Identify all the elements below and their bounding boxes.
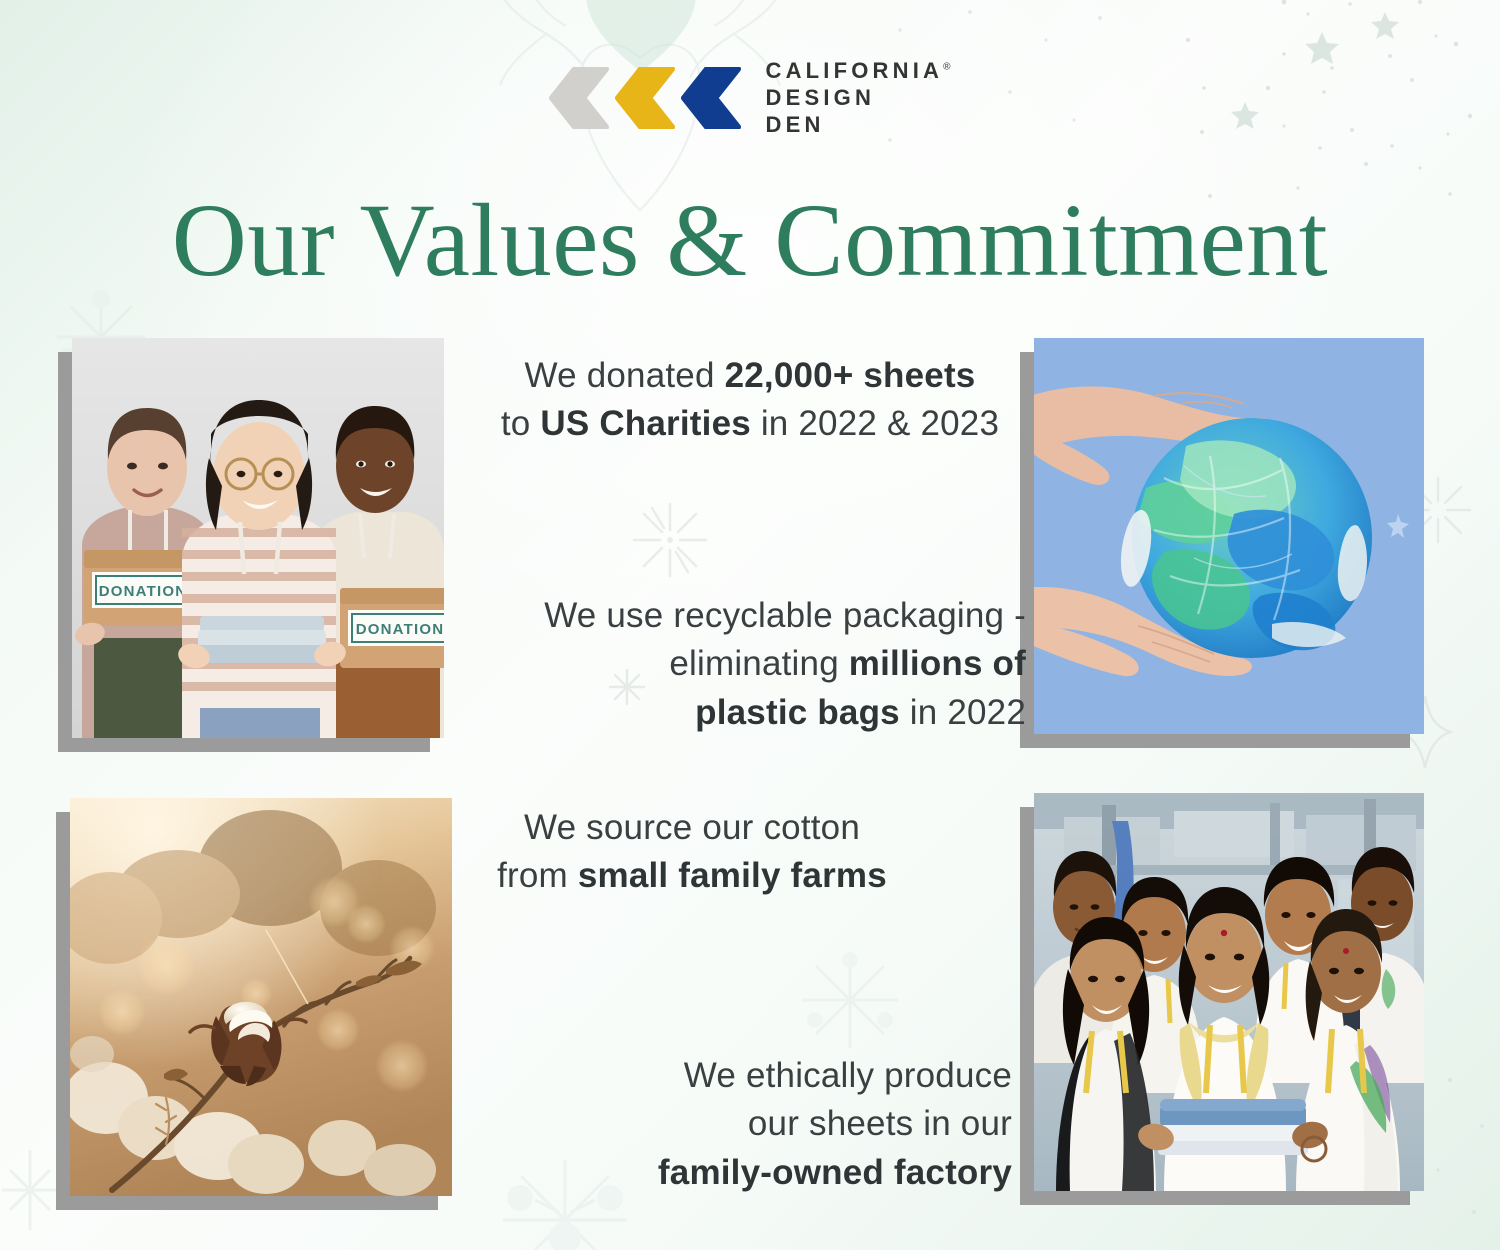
photo-cotton-field (70, 798, 452, 1196)
brand-wordmark: CALIFORNIA® DESIGN DEN (765, 58, 950, 138)
logo-chevron-marks (549, 67, 743, 129)
stat-donations-line-2: to US Charities in 2022 & 2023 (470, 400, 1030, 448)
stat-packaging-line-2: eliminating millions of (470, 640, 1026, 688)
deco-snowflake-mid-right (790, 940, 910, 1060)
stat-ethical-production: We ethically produce our sheets in our f… (600, 1052, 1012, 1197)
stat-cotton-line-1: We source our cotton (462, 804, 922, 852)
deco-stars-bottom-right (1420, 1060, 1500, 1250)
photo-image: DONATION (72, 338, 444, 738)
photo-image (70, 798, 452, 1196)
stat-donations-highlight-1: 22,000+ sheets (725, 356, 976, 395)
donation-box-label-right: DONATION (356, 621, 444, 638)
stat-ethical-line-3: family-owned factory (600, 1149, 1012, 1197)
stat-recyclable-packaging: We use recyclable packaging - eliminatin… (470, 592, 1026, 737)
brand-line-1: CALIFORNIA® (765, 58, 950, 85)
stat-cotton-highlight: small family farms (578, 856, 887, 895)
brand-logo: CALIFORNIA® DESIGN DEN (0, 58, 1500, 138)
stat-packaging-line-3: plastic bags in 2022 (470, 689, 1026, 737)
chevron-blue-icon (681, 67, 743, 129)
photo-factory-workers (1034, 793, 1424, 1191)
stat-cotton-sourcing: We source our cotton from small family f… (462, 804, 922, 901)
donation-box-label-left: DONATION (99, 583, 187, 600)
brand-line-3: DEN (765, 112, 950, 139)
stat-ethical-highlight: family-owned factory (658, 1153, 1012, 1192)
stat-packaging-highlight-1: millions of (849, 644, 1026, 683)
stat-ethical-line-2: our sheets in our (600, 1100, 1012, 1148)
registered-mark: ® (943, 62, 950, 73)
stat-packaging-line-1: We use recyclable packaging - (470, 592, 1026, 640)
infographic-poster: CALIFORNIA® DESIGN DEN Our Values & Comm… (0, 0, 1500, 1250)
stat-cotton-line-2: from small family farms (462, 852, 922, 900)
stat-ethical-line-1: We ethically produce (600, 1052, 1012, 1100)
stat-donations-highlight-2: US Charities (540, 404, 751, 443)
deco-sparkle-burst-center (625, 495, 715, 585)
page-title: Our Values & Commitment (0, 186, 1500, 295)
chevron-yellow-icon (615, 67, 677, 129)
stat-packaging-highlight-2: plastic bags (695, 693, 900, 732)
photo-image (1034, 338, 1424, 734)
photo-donation-volunteers: DONATION (72, 338, 444, 738)
photo-image (1034, 793, 1424, 1191)
brand-line-2: DESIGN (765, 85, 950, 112)
stat-donations-line-1: We donated 22,000+ sheets (470, 352, 1030, 400)
photo-plastic-bag-earth (1034, 338, 1424, 734)
chevron-gray-icon (549, 67, 611, 129)
stat-donations: We donated 22,000+ sheets to US Charitie… (470, 352, 1030, 449)
